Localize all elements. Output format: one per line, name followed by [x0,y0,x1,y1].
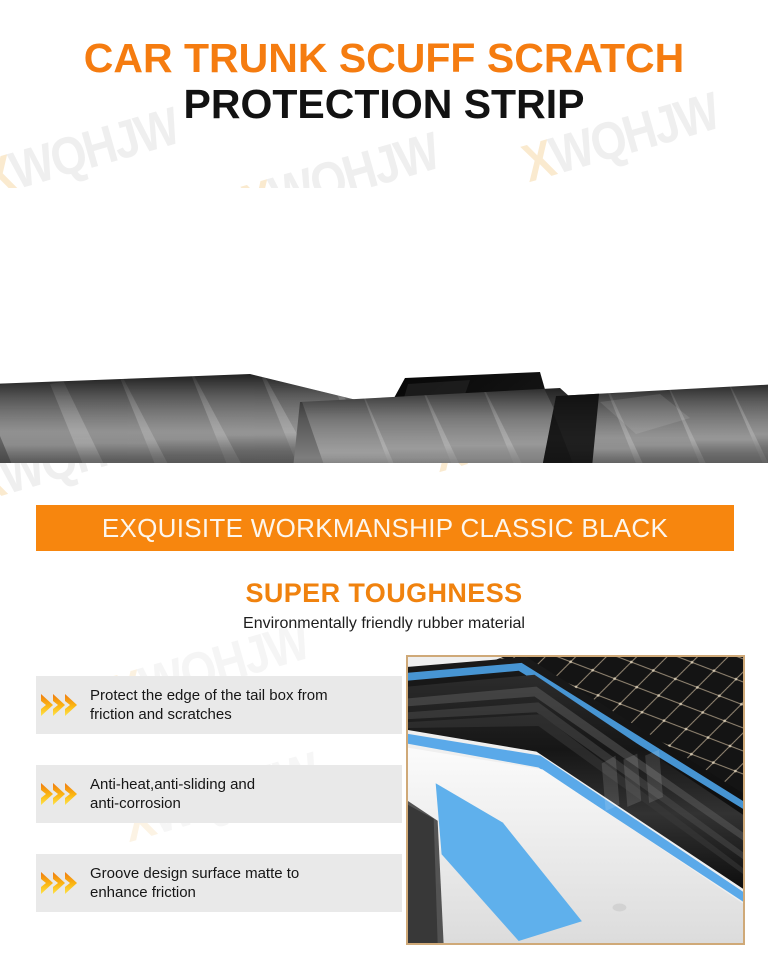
list-item: Protect the edge of the tail box from fr… [36,676,402,734]
triple-chevron-icon [40,869,86,897]
toughness-heading: SUPER TOUGHNESS [0,578,768,609]
hero-product-image [0,188,768,463]
trunk-sill-photo [408,657,743,943]
feature-text: Protect the edge of the tail box from fr… [86,686,328,724]
feature-text: Anti-heat,anti-sliding and anti-corrosio… [86,775,255,813]
feature-list: Protect the edge of the tail box from fr… [36,676,402,943]
title-line-1: CAR TRUNK SCUFF SCRATCH [0,36,768,82]
banner-exquisite-workmanship: EXQUISITE WORKMANSHIP CLASSIC BLACK [36,505,734,551]
feature-line-2: anti-corrosion [90,794,255,813]
rubber-strip-photo [0,188,768,463]
toughness-section: SUPER TOUGHNESS Environmentally friendly… [0,578,768,633]
feature-line-2: enhance friction [90,883,299,902]
feature-line-2: friction and scratches [90,705,328,724]
page-title: CAR TRUNK SCUFF SCRATCH PROTECTION STRIP [0,36,768,128]
banner-label: EXQUISITE WORKMANSHIP CLASSIC BLACK [102,513,668,544]
feature-line-1: Anti-heat,anti-sliding and [90,775,255,794]
triple-chevron-icon [40,780,86,808]
feature-line-1: Groove design surface matte to [90,864,299,883]
toughness-subtitle: Environmentally friendly rubber material [0,615,768,633]
title-line-2: PROTECTION STRIP [0,82,768,128]
triple-chevron-icon [40,691,86,719]
installed-product-photo [406,655,745,945]
feature-text: Groove design surface matte to enhance f… [86,864,299,902]
body-detail [613,904,627,912]
list-item: Groove design surface matte to enhance f… [36,854,402,912]
feature-line-1: Protect the edge of the tail box from [90,686,328,705]
list-item: Anti-heat,anti-sliding and anti-corrosio… [36,765,402,823]
